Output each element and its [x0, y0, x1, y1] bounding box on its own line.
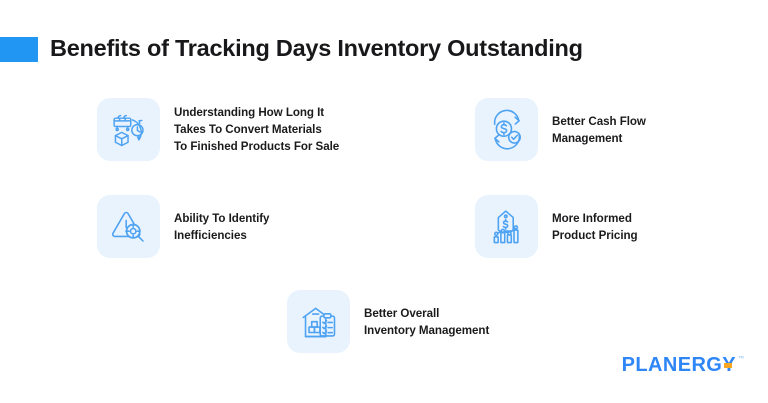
benefit-label: Better Overall Inventory Management — [364, 305, 489, 339]
materials-conversion-time-icon — [108, 109, 150, 151]
benefit-line: Inventory Management — [364, 322, 489, 339]
warehouse-inventory-icon — [298, 301, 340, 343]
benefit-item: More Informed Product Pricing — [475, 195, 638, 258]
benefit-line: Takes To Convert Materials — [174, 121, 339, 138]
icon-tile — [475, 98, 538, 161]
icon-tile — [287, 290, 350, 353]
title-row: Benefits of Tracking Days Inventory Outs… — [0, 36, 583, 62]
benefit-line: More Informed — [552, 210, 638, 227]
benefit-label: More Informed Product Pricing — [552, 210, 638, 244]
page-title: Benefits of Tracking Days Inventory Outs… — [50, 37, 583, 61]
identify-inefficiencies-icon — [108, 206, 150, 248]
benefit-label: Better Cash Flow Management — [552, 113, 646, 147]
benefit-line: Management — [552, 130, 646, 147]
benefit-line: Better Overall — [364, 305, 489, 322]
benefit-label: Understanding How Long It Takes To Conve… — [174, 104, 339, 155]
logo-accent-mark — [724, 363, 732, 368]
accent-bar — [0, 37, 38, 62]
benefit-line: To Finished Products For Sale — [174, 138, 339, 155]
benefit-item: Better Overall Inventory Management — [287, 290, 489, 353]
icon-tile — [475, 195, 538, 258]
benefit-item: Ability To Identify Inefficiencies — [97, 195, 269, 258]
benefit-line: Better Cash Flow — [552, 113, 646, 130]
product-pricing-icon — [486, 206, 528, 248]
planergy-logo: PLANERGY ™ — [622, 355, 744, 375]
benefit-line: Understanding How Long It — [174, 104, 339, 121]
icon-tile — [97, 195, 160, 258]
cash-flow-icon — [486, 109, 528, 151]
benefit-label: Ability To Identify Inefficiencies — [174, 210, 269, 244]
benefit-line: Ability To Identify — [174, 210, 269, 227]
logo-wordmark: PLANERGY — [622, 355, 736, 375]
benefit-item: Understanding How Long It Takes To Conve… — [97, 98, 339, 161]
benefit-item: Better Cash Flow Management — [475, 98, 646, 161]
benefit-line: Product Pricing — [552, 227, 638, 244]
icon-tile — [97, 98, 160, 161]
trademark-symbol: ™ — [738, 356, 744, 362]
benefit-line: Inefficiencies — [174, 227, 269, 244]
